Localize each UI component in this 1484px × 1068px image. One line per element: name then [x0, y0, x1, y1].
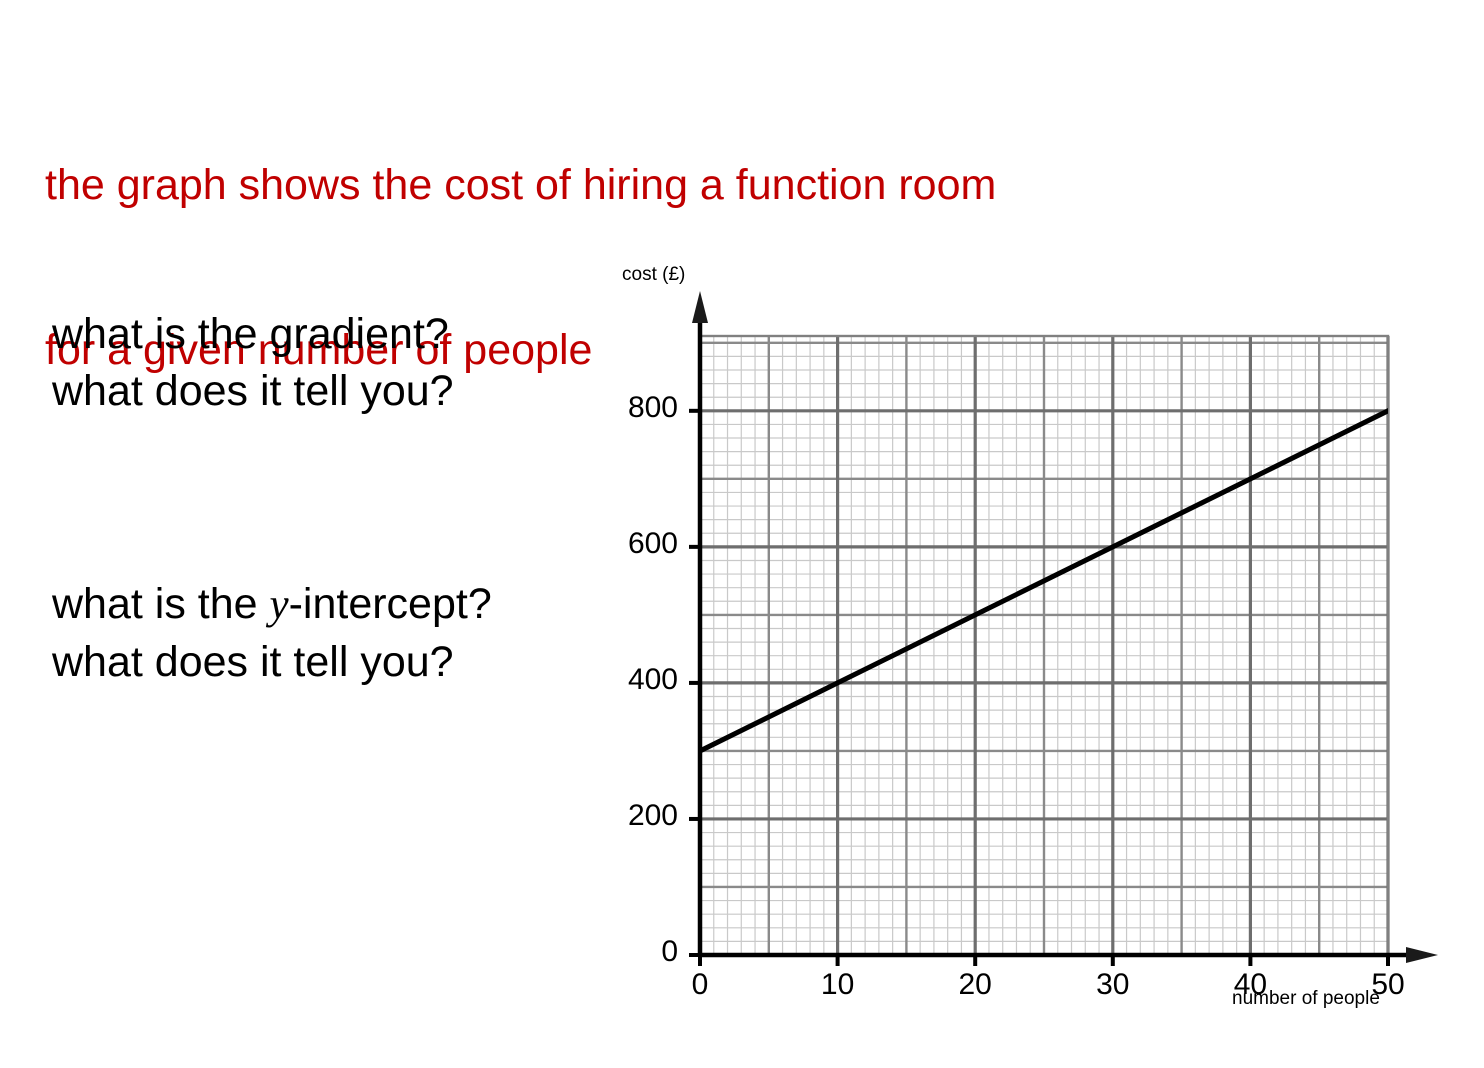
- y-axis-tick-label: 600: [588, 527, 678, 561]
- x-axis-arrow-icon: [1406, 947, 1438, 963]
- y-axis-tick-label: 800: [588, 391, 678, 425]
- y-axis-arrow-icon: [692, 291, 708, 323]
- slide-title-line-1: the graph shows the cost of hiring a fun…: [45, 158, 1225, 213]
- x-axis-tick-label: 10: [798, 968, 878, 1002]
- question-y-intercept-line-2: what does it tell you?: [52, 634, 492, 691]
- question-y-intercept-line-1: what is the y-intercept?: [52, 576, 492, 634]
- chart-plot-svg: [600, 255, 1460, 1045]
- question-gradient-line-2: what does it tell you?: [52, 363, 454, 420]
- math-variable-y: y: [270, 581, 289, 628]
- cost-vs-people-chart: cost (£) number of people 0200400600800 …: [600, 255, 1460, 1045]
- x-axis-tick-label: 20: [935, 968, 1015, 1002]
- x-axis-tick-label: 50: [1348, 968, 1428, 1002]
- question-gradient: what is the gradient? what does it tell …: [52, 306, 454, 420]
- question-y-intercept-suffix: -intercept?: [289, 580, 492, 628]
- y-axis-tick-label: 400: [588, 663, 678, 697]
- x-axis-tick-label: 40: [1210, 968, 1290, 1002]
- y-axis-tick-label: 0: [588, 935, 678, 969]
- question-y-intercept: what is the y-intercept? what does it te…: [52, 576, 492, 691]
- x-axis-tick-label: 30: [1073, 968, 1153, 1002]
- x-axis-tick-label: 0: [660, 968, 740, 1002]
- question-y-intercept-prefix: what is the: [52, 580, 270, 628]
- question-gradient-line-1: what is the gradient?: [52, 306, 454, 363]
- y-axis-tick-label: 200: [588, 799, 678, 833]
